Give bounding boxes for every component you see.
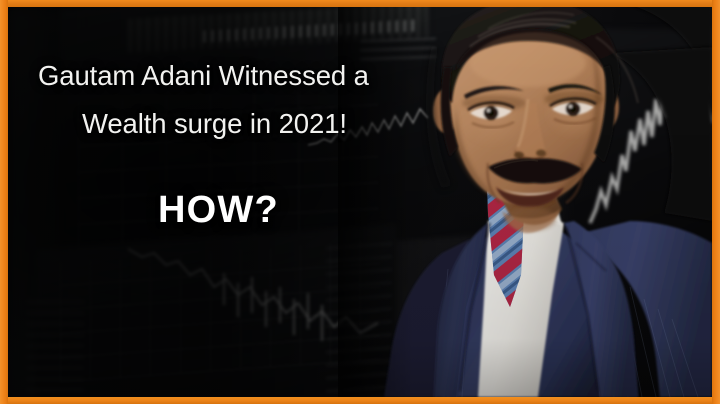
- frame-border-top: [0, 0, 720, 7]
- portrait-tone-overlay: [338, 7, 712, 397]
- subject-portrait: [338, 7, 712, 397]
- frame-border-bottom: [0, 397, 720, 404]
- frame-border-right: [712, 0, 720, 404]
- thumbnail-photo: Gautam Adani Witnessed a Wealth surge in…: [8, 7, 712, 397]
- video-thumbnail: Gautam Adani Witnessed a Wealth surge in…: [0, 0, 720, 404]
- frame-border-left: [0, 0, 8, 404]
